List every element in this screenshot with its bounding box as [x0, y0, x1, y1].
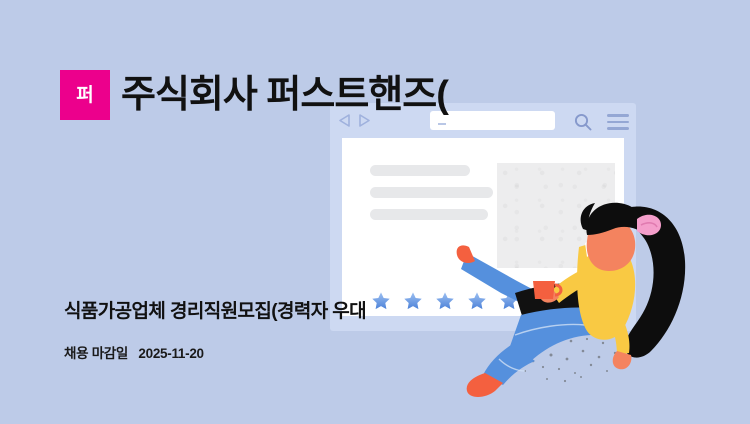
text-caret — [438, 123, 446, 125]
person-illustration — [455, 185, 705, 400]
hair-bow — [637, 215, 661, 236]
deadline-row: 채용 마감일 2025-11-20 — [64, 342, 204, 362]
search-icon[interactable] — [573, 112, 593, 132]
deadline-label: 채용 마감일 — [64, 346, 128, 361]
poster-canvas: 퍼 주식회사 퍼스트핸즈( 식품가공업체 경리직원모집(경력자 우대 채용 마감… — [0, 0, 750, 424]
star-icon — [370, 290, 392, 312]
far-shoe — [457, 245, 475, 263]
job-title: 식품가공업체 경리직원모집(경력자 우대 — [64, 296, 366, 323]
skeleton-line — [370, 165, 470, 176]
cup — [533, 281, 555, 299]
company-title: 주식회사 퍼스트핸즈( — [121, 71, 448, 119]
hamburger-menu-icon[interactable] — [607, 114, 629, 134]
star-icon — [402, 290, 424, 312]
star-icon — [434, 290, 456, 312]
logo-badge-text: 퍼 — [76, 86, 93, 105]
browser-address-bar[interactable] — [430, 111, 555, 130]
company-logo-badge: 퍼 — [60, 70, 110, 120]
deadline-date: 2025-11-20 — [138, 346, 203, 361]
